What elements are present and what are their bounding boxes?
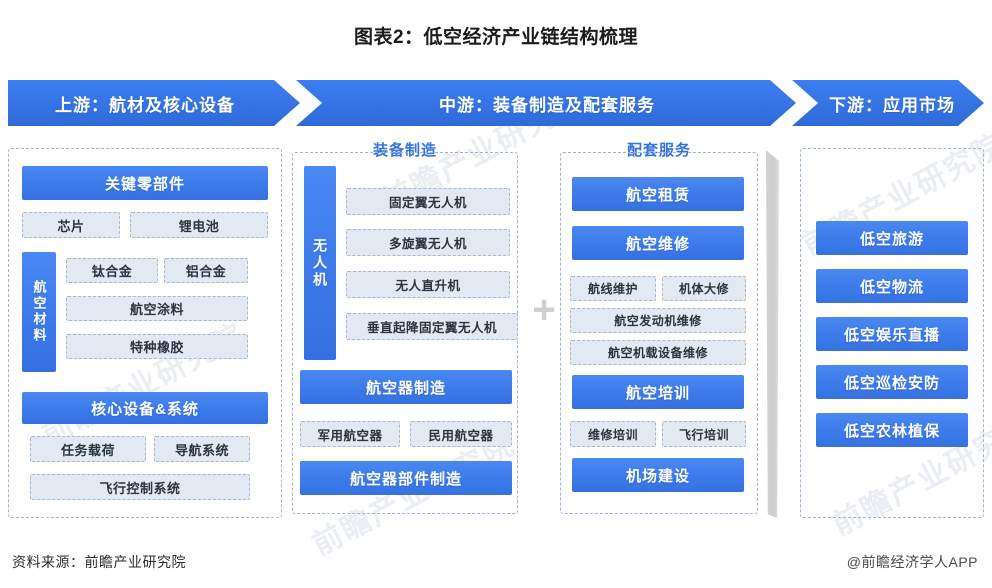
equipment-vtol-fixed-wing-uav[interactable]: 垂直起降固定翼无人机 [346,313,518,340]
banner-downstream[interactable]: 下游：应用市场 [792,80,984,126]
services-flight-training[interactable]: 飞行培训 [662,421,746,447]
equipment-parts-header[interactable]: 航空器部件制造 [300,461,512,495]
banner-upstream[interactable]: 上游：航材及核心设备 [8,80,300,126]
services-aviation-maintenance-header[interactable]: 航空维修 [572,226,744,260]
services-aviation-training-header[interactable]: 航空培训 [572,375,744,409]
equipment-uav-label[interactable]: 无人机 [304,166,336,360]
downstream-low-altitude-logistics[interactable]: 低空物流 [816,269,968,303]
upstream-titanium-alloy[interactable]: 钛合金 [66,258,158,283]
upstream-aviation-coating[interactable]: 航空涂料 [66,296,248,321]
equipment-aircraft-header[interactable]: 航空器制造 [300,370,512,404]
upstream-flight-control-system[interactable]: 飞行控制系统 [30,474,250,500]
services-engine-maintenance[interactable]: 航空发动机维修 [570,308,746,333]
upstream-core-equipment-header[interactable]: 核心设备&系统 [22,392,268,424]
stage-banner: 上游：航材及核心设备 中游：装备制造及配套服务 下游：应用市场 [8,80,984,126]
upstream-lithium-battery[interactable]: 锂电池 [130,212,268,238]
vertical-divider [766,150,779,518]
services-airport-construction-header[interactable]: 机场建设 [572,458,744,492]
services-line-maintenance[interactable]: 航线维护 [570,276,656,301]
upstream-chip[interactable]: 芯片 [22,212,120,238]
upstream-aluminum-alloy[interactable]: 铝合金 [164,258,248,283]
services-airframe-overhaul[interactable]: 机体大修 [662,276,746,301]
upstream-key-components-header[interactable]: 关键零部件 [22,166,268,200]
equipment-civil-aircraft[interactable]: 民用航空器 [410,421,512,447]
services-aviation-leasing-header[interactable]: 航空租赁 [572,177,744,211]
equipment-military-aircraft[interactable]: 军用航空器 [300,421,400,447]
downstream-low-altitude-tourism[interactable]: 低空旅游 [816,221,968,255]
page-title: 图表2：低空经济产业链结构梳理 [0,22,992,49]
banner-midstream[interactable]: 中游：装备制造及配套服务 [296,80,796,126]
equipment-unmanned-helicopter[interactable]: 无人直升机 [346,271,510,298]
upstream-navigation-system[interactable]: 导航系统 [154,436,250,462]
services-maintenance-training[interactable]: 维修培训 [570,421,656,447]
credit-note: @前瞻经济学人APP [847,552,978,572]
industry-chain-diagram: 图表2：低空经济产业链结构梳理 前瞻产业研究院 前瞻产业研究院 前瞻产业研究院 … [0,0,992,588]
upstream-special-rubber[interactable]: 特种橡胶 [66,334,248,359]
upstream-mission-payload[interactable]: 任务载荷 [30,436,146,462]
services-avionics-maintenance[interactable]: 航空机载设备维修 [570,340,746,365]
downstream-low-altitude-agriculture-forestry[interactable]: 低空农林植保 [816,413,968,447]
upstream-materials-label[interactable]: 航空材料 [22,252,56,372]
downstream-low-altitude-entertainment-livestream[interactable]: 低空娱乐直播 [816,317,968,351]
downstream-low-altitude-inspection-security[interactable]: 低空巡检安防 [816,365,968,399]
equipment-multirotor-uav[interactable]: 多旋翼无人机 [346,229,510,256]
equipment-fixed-wing-uav[interactable]: 固定翼无人机 [346,188,510,215]
plus-separator-icon: + [530,296,558,324]
source-note: 资料来源：前瞻产业研究院 [12,552,186,572]
